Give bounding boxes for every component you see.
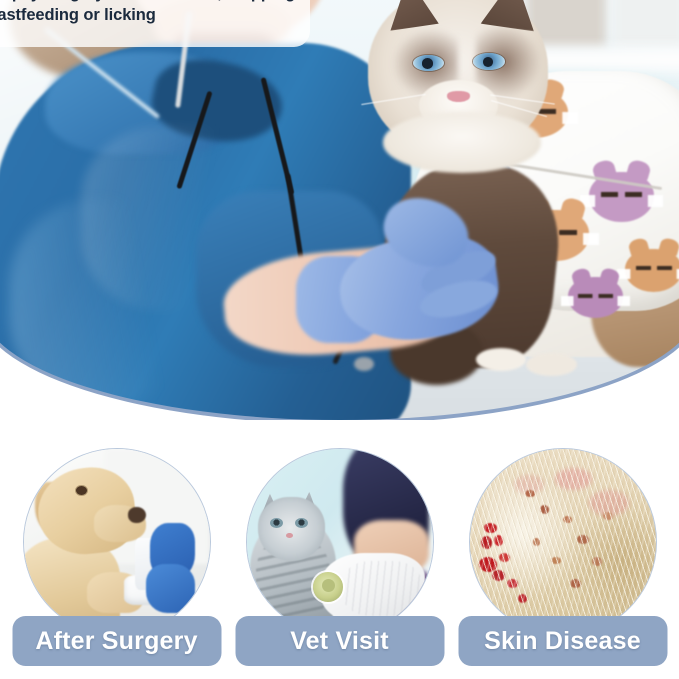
glove-texture <box>343 561 421 617</box>
cat-neck-ruff <box>383 112 541 172</box>
hero-image: PERFECT For spay surgery or skin issues,… <box>0 0 679 420</box>
fur-texture <box>469 448 657 636</box>
cat-nose <box>447 91 470 102</box>
dog-nose <box>128 507 147 524</box>
print-whiskers <box>561 296 631 306</box>
kitten-photo <box>247 449 433 635</box>
kitten-head <box>258 497 325 560</box>
use-case-cards: After Surgery <box>0 448 679 679</box>
card-label-pill[interactable]: Vet Visit <box>235 616 444 666</box>
card-vet-visit[interactable]: Vet Visit <box>235 448 444 679</box>
suit-cat-print <box>568 277 622 318</box>
card-label: Skin Disease <box>484 627 641 656</box>
skin-photo <box>470 449 656 635</box>
cat-pupil-left <box>422 58 433 68</box>
card-label-pill[interactable]: After Surgery <box>12 616 221 666</box>
card-label: Vet Visit <box>290 627 389 656</box>
card-after-surgery[interactable]: After Surgery <box>12 448 221 679</box>
suit-cat-print <box>625 249 679 292</box>
card-image-circle <box>469 448 657 636</box>
print-whiskers <box>617 269 679 279</box>
header-overlay-panel: PERFECT For spay surgery or skin issues,… <box>0 0 310 47</box>
scrubs-fold <box>9 200 196 403</box>
page-subtitle: For spay surgery or skin issues, stoppin… <box>0 0 300 26</box>
shelf-box-3 <box>613 0 679 48</box>
cat-paw <box>526 353 576 376</box>
card-label-pill[interactable]: Skin Disease <box>458 616 667 666</box>
hero-section: PERFECT For spay surgery or skin issues,… <box>0 0 679 420</box>
card-skin-disease[interactable]: Skin Disease <box>458 448 667 679</box>
vet-cat-photo <box>0 0 679 420</box>
product-infographic: PERFECT For spay surgery or skin issues,… <box>0 0 679 679</box>
dog-photo <box>24 449 210 635</box>
card-image-circle <box>246 448 434 636</box>
blue-glove-hand <box>146 564 194 612</box>
print-whiskers <box>580 195 663 207</box>
card-label: After Surgery <box>35 627 197 656</box>
card-image-circle <box>23 448 211 636</box>
